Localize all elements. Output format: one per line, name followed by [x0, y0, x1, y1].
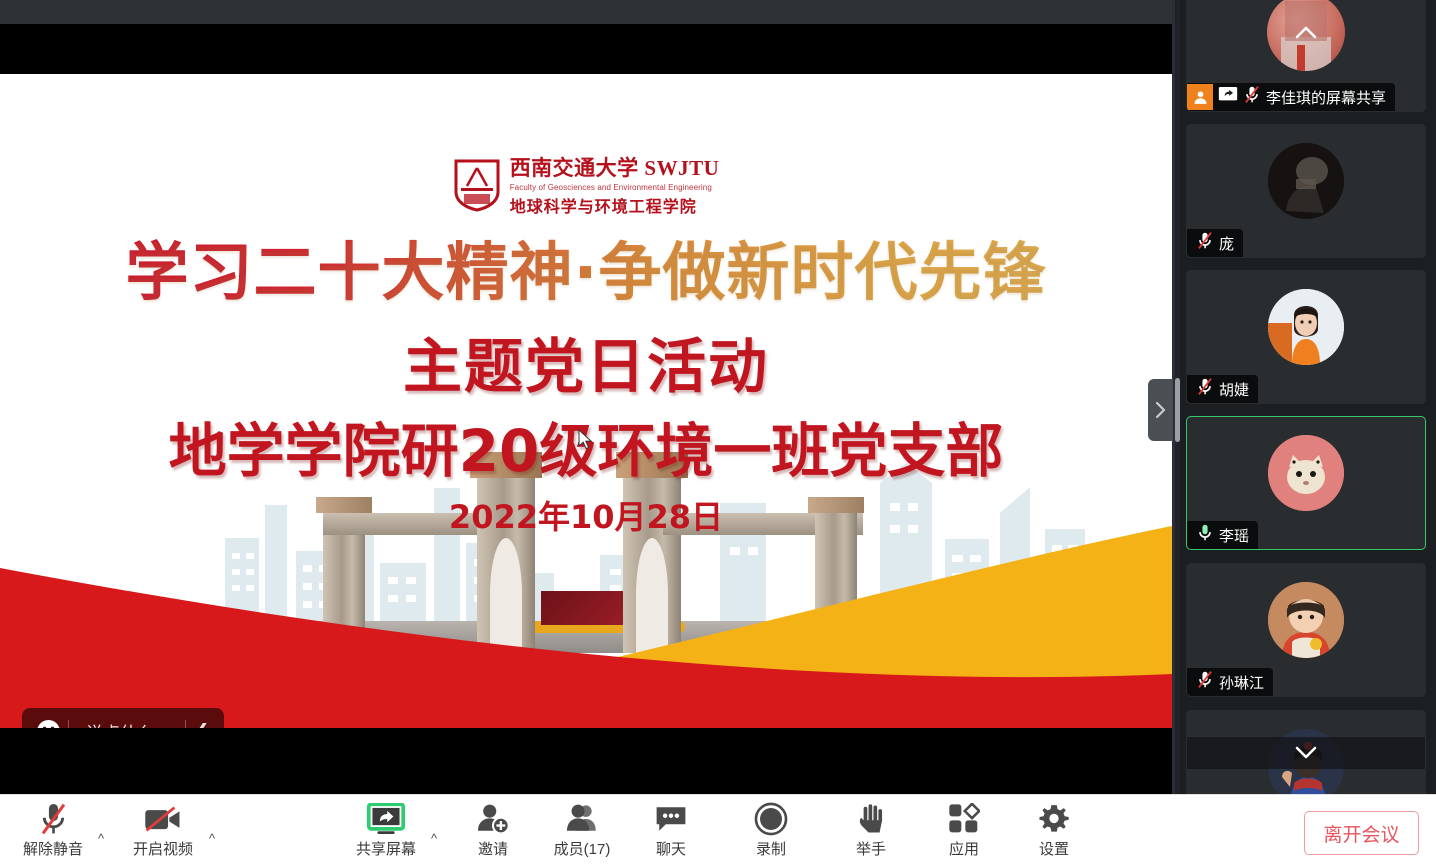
chevron-down-icon[interactable]: [1291, 741, 1321, 763]
microphone-muted-icon: [37, 801, 70, 837]
logo-line-1: 西南交通大学 SWJTU: [510, 152, 720, 182]
presentation-slide: 西南交通大学 SWJTU Faculty of Geosciences and …: [0, 74, 1172, 728]
microphone-muted-icon: [1243, 85, 1261, 109]
chat-input-bar[interactable]: 说点什么... ❮: [22, 708, 224, 728]
raise-hand-icon: [855, 801, 887, 837]
toolbar-start-video-button[interactable]: 开启视频: [122, 801, 204, 863]
toolbar-chat-button[interactable]: 聊天: [640, 801, 702, 863]
smiley-face-icon[interactable]: [28, 719, 68, 729]
letterbox-top: [0, 24, 1172, 74]
chevron-right-icon: [1154, 400, 1167, 420]
toolbar-raise-hand-button[interactable]: 举手: [840, 801, 902, 863]
avatar: [1268, 289, 1344, 365]
swjtu-logo: 西南交通大学 SWJTU Faculty of Geosciences and …: [0, 152, 1172, 217]
gear-icon: [1038, 801, 1070, 837]
share-screen-icon: [1218, 86, 1238, 108]
participant-tile-3-active[interactable]: 李瑶: [1186, 416, 1426, 550]
chevron-left-icon[interactable]: ❮: [186, 721, 218, 728]
meeting-window: 西南交通大学 SWJTU Faculty of Geosciences and …: [0, 0, 1436, 868]
participants-icon: [565, 801, 599, 837]
microphone-on-icon: [1187, 523, 1214, 547]
share-options-caret-icon[interactable]: ^: [431, 831, 437, 846]
panel-scrollbar-thumb[interactable]: [1175, 378, 1180, 442]
toolbar-record-button[interactable]: 录制: [740, 801, 802, 863]
logo-line-2: Faculty of Geosciences and Environmental…: [510, 183, 720, 192]
logo-line-3: 地球科学与环境工程学院: [510, 193, 720, 217]
slide-title-sub1: 主题党日活动: [0, 319, 1172, 404]
toolbar-share-screen-button[interactable]: 共享屏幕: [344, 801, 428, 863]
swjtu-shield-icon: [453, 158, 501, 212]
participant-name: 庞: [1219, 233, 1234, 254]
chevron-up-icon[interactable]: [1291, 23, 1321, 43]
toolbar-unmute-button[interactable]: 解除静音: [13, 801, 93, 863]
slide-date: 2022年10月28日: [0, 492, 1172, 538]
participant-name: 李佳琪的屏幕共享: [1266, 87, 1386, 108]
microphone-muted-icon: [1187, 377, 1214, 401]
participant-tile-2[interactable]: 胡婕: [1186, 270, 1426, 404]
participant-namebar: 孙琳江: [1187, 668, 1273, 696]
participant-namebar: 胡婕: [1187, 375, 1258, 403]
participant-namebar: 李佳琪的屏幕共享: [1187, 83, 1395, 111]
chat-bubble-icon: [654, 801, 688, 837]
toolbar-label: 录制: [756, 838, 786, 859]
toolbar-participants-button[interactable]: 成员(17): [540, 801, 624, 863]
toolbar-label: 共享屏幕: [356, 838, 416, 859]
apps-grid-icon: [948, 801, 980, 837]
avatar: [1268, 582, 1344, 658]
participant-namebar: 庞: [1187, 229, 1243, 257]
toolbar-label: 成员(17): [554, 838, 611, 859]
share-screen-icon: [366, 801, 406, 837]
participant-name: 李瑶: [1219, 525, 1249, 546]
microphone-muted-icon: [1187, 670, 1214, 694]
meeting-toolbar: 解除静音 ^ 开启视频 ^: [0, 794, 1436, 868]
chat-placeholder[interactable]: 说点什么...: [69, 719, 185, 729]
leave-meeting-button[interactable]: 离开会议: [1304, 811, 1419, 855]
slide-title-main: 学习二十大精神·争做新时代先锋: [0, 222, 1172, 313]
participant-tile-1[interactable]: 庞: [1186, 124, 1426, 258]
shared-screen-stage[interactable]: 西南交通大学 SWJTU Faculty of Geosciences and …: [0, 0, 1172, 794]
toolbar-label: 举手: [856, 838, 886, 859]
toolbar-label: 邀请: [478, 838, 508, 859]
video-options-caret-icon[interactable]: ^: [209, 831, 215, 846]
add-person-icon: [476, 801, 510, 837]
participant-tile-sharing[interactable]: 李佳琪的屏幕共享: [1186, 0, 1426, 112]
record-circle-icon: [754, 801, 788, 837]
microphone-muted-icon: [1187, 231, 1214, 255]
video-camera-off-icon: [144, 801, 182, 837]
toolbar-label: 聊天: [656, 838, 686, 859]
avatar: [1268, 143, 1344, 219]
toolbar-label: 应用: [949, 838, 979, 859]
toolbar-label: 设置: [1039, 838, 1069, 859]
toolbar-invite-button[interactable]: 邀请: [462, 801, 524, 863]
toolbar-label: 解除静音: [23, 838, 83, 859]
leave-meeting-label: 离开会议: [1323, 820, 1399, 847]
audio-options-caret-icon[interactable]: ^: [98, 831, 104, 846]
participants-panel[interactable]: 李佳琪的屏幕共享: [1180, 0, 1436, 794]
participant-namebar: 李瑶: [1187, 521, 1258, 549]
participant-name: 胡婕: [1219, 379, 1249, 400]
host-person-icon: [1187, 84, 1213, 110]
participant-name: 孙琳江: [1219, 672, 1264, 693]
participant-tile-4[interactable]: 孙琳江: [1186, 563, 1426, 697]
stage-top-strip: [0, 0, 1172, 24]
participant-tile-5-partial[interactable]: [1186, 710, 1426, 794]
collapse-panel-button[interactable]: [1148, 379, 1173, 441]
avatar: [1268, 435, 1344, 511]
mouse-cursor: [578, 429, 594, 451]
toolbar-apps-button[interactable]: 应用: [933, 801, 995, 863]
toolbar-settings-button[interactable]: 设置: [1023, 801, 1085, 863]
letterbox-bottom: [0, 728, 1172, 794]
toolbar-label: 开启视频: [133, 838, 193, 859]
